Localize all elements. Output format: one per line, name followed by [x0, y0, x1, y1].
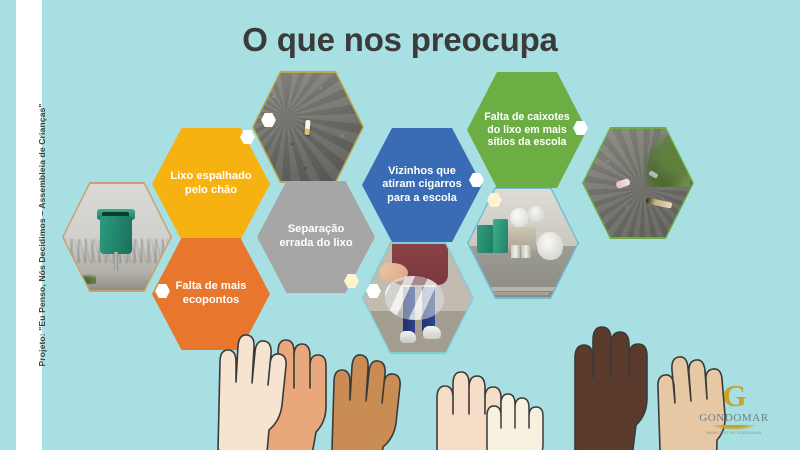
hexagon-falta-caixotes-label: Falta de caixotes do lixo em mais sítios…: [467, 111, 587, 150]
photo-cigarette: [252, 71, 364, 183]
photo-litter: [582, 127, 694, 239]
photo-litter-image: [584, 129, 693, 238]
photo-cigarette-image: [254, 73, 363, 182]
slide-canvas: Projeto: "Eu Penso, Nós Decidimos – Asse…: [0, 0, 800, 450]
photo-green-bin: [62, 182, 172, 292]
raised-hands-illustration: [0, 310, 800, 450]
hexagon-lixo-espalhado-label: Lixo espalhado pelo chão: [152, 170, 270, 197]
page-title: O que nos preocupa: [0, 21, 800, 59]
gondomar-logo: G GONDOMAR MUNICÍPIO DE GONDOMAR: [682, 374, 786, 436]
hexagon-falta-ecopontos-label: Falta de mais ecopontos: [152, 280, 270, 307]
photo-green-bin-image: [64, 184, 171, 291]
hand-6: [575, 327, 647, 450]
photo-bags-image: [469, 189, 578, 298]
hexagon-vizinhos-cigarros-label: Vizinhos que atiram cigarros para a esco…: [362, 165, 482, 205]
logo-g-mark: G: [722, 381, 745, 411]
hexagon-separacao-errada[interactable]: Separação errada do lixo: [257, 181, 375, 293]
photo-bags: [467, 187, 579, 299]
logo-swirl-icon: [712, 425, 756, 430]
logo-name: GONDOMAR: [699, 412, 769, 424]
hexagon-falta-caixotes[interactable]: Falta de caixotes do lixo em mais sítios…: [467, 72, 587, 188]
logo-subtitle: MUNICÍPIO DE GONDOMAR: [707, 431, 762, 436]
hexagon-lixo-espalhado[interactable]: Lixo espalhado pelo chão: [152, 128, 270, 240]
hexagon-vizinhos-cigarros[interactable]: Vizinhos que atiram cigarros para a esco…: [362, 128, 482, 242]
hexagon-separacao-errada-label: Separação errada do lixo: [257, 223, 375, 250]
hand-3: [332, 355, 400, 450]
